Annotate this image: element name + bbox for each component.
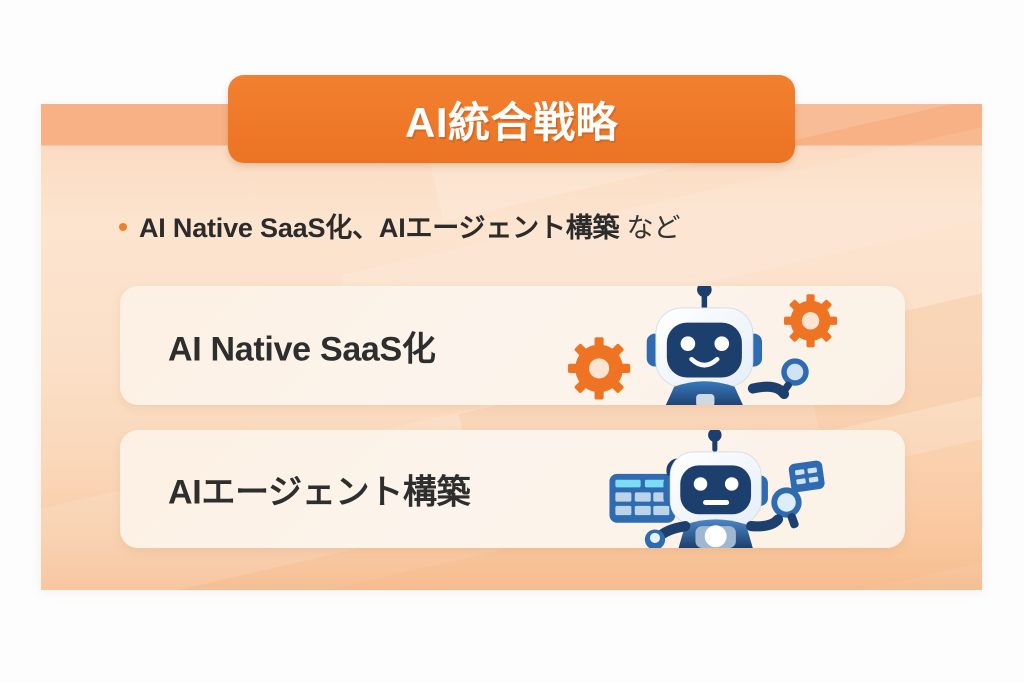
card-label: AIエージェント構築 [168,465,470,514]
bullet-row: AI Native SaaS化、AIエージェント構築 など [119,206,680,245]
slide-stage: AI統合戦略 AI Native SaaS化、AIエージェント構築 など AI … [0,0,1024,683]
bullet-text: AI Native SaaS化、AIエージェント構築 など [139,206,680,245]
page-title: AI統合戦略 [405,89,618,150]
robot-with-gears-icon [565,286,895,405]
bullet-text-main: AI Native SaaS化、AIエージェント構築 [139,213,619,243]
card-ai-agent-build[interactable]: AIエージェント構築 [120,430,905,548]
card-ai-native-saas[interactable]: AI Native SaaS化 [120,286,905,405]
robot-with-dashboard-icon [565,430,895,548]
title-banner: AI統合戦略 [228,75,795,163]
bullet-dot-icon [119,223,127,231]
bullet-text-tail: など [619,213,680,243]
card-label: AI Native SaaS化 [168,321,436,370]
